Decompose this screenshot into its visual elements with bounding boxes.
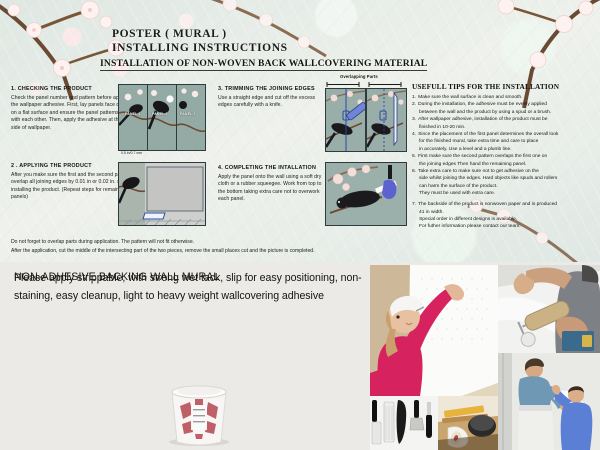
squeegee-applying-art <box>326 163 406 225</box>
note-line-2: After the application, cut the middle of… <box>11 247 481 256</box>
adhesive-bucket-image <box>160 380 238 448</box>
panel-2-label: PANEL 2 <box>152 112 168 116</box>
step-4-completing-the-installation: 4. COMPLETING THE INTALLATION Apply the … <box>218 165 324 204</box>
tip-text: Since the placement of the first panel d… <box>418 132 596 139</box>
tip-text: the joining edges Then hand the remainin… <box>419 162 596 169</box>
tip-item: 3. After wallpaper adhesive, installatio… <box>412 117 596 124</box>
step-2-heading: 2 . APPLYING THE PRODUCT <box>11 163 135 169</box>
tip-number: 6. <box>412 169 416 176</box>
tip-number: 5. <box>412 154 416 161</box>
tip-text: for the finished mural, take extra time … <box>419 139 596 146</box>
bird-panel-art <box>148 85 176 150</box>
photo-collage <box>370 265 600 450</box>
step-1-heading: 1. CHECKING THE PRODUCT <box>11 86 135 92</box>
tip-item: 4. Since the placement of the first pane… <box>412 132 596 139</box>
hands-with-roller-image <box>498 265 600 353</box>
measurement-caption: 0.5 in/0.7 mm <box>121 151 142 155</box>
tip-text: During the installation, the adhesive mu… <box>418 102 596 109</box>
illustration-trim-right <box>366 88 407 152</box>
wallpaper-tools-image <box>370 396 438 450</box>
document-title: POSTER ( MURAL ) INSTALLING INSTRUCTIONS <box>112 27 288 55</box>
title-line-2: INSTALLING INSTRUCTIONS <box>112 41 288 55</box>
useful-tips-block: USEFULL TIPS FOR THE INSTALLATION 1. Mak… <box>412 82 596 232</box>
step-1-checking-the-product: 1. CHECKING THE PRODUCT Check the panel … <box>11 86 135 132</box>
instruction-sheet: POSTER ( MURAL ) INSTALLING INSTRUCTIONS… <box>0 0 600 450</box>
tip-text: Take extra care to make sure not to get … <box>418 169 596 176</box>
tip-text: Special order in different designs is av… <box>419 217 596 224</box>
tip-text-cont: 41 in width. <box>412 210 596 217</box>
tip-number: 3. <box>412 117 416 124</box>
note-line-1: Do not forget to overlap parts during ap… <box>11 238 481 247</box>
tips-heading: USEFULL TIPS FOR THE INSTALLATION <box>412 82 596 91</box>
tip-text: First make sure the second pattern overl… <box>418 154 596 161</box>
illustration-completing-installation <box>325 162 407 226</box>
tip-text-cont: for the finished mural, take extra time … <box>412 139 596 146</box>
tip-text-cont: finished in 10-20 min. <box>412 125 596 132</box>
tip-text: The backside of the product is nonwoven … <box>418 202 596 209</box>
step-2-body: After you make sure the first and the se… <box>11 172 135 202</box>
step-4-body: Apply the panel onto the wall using a so… <box>218 174 324 204</box>
applying-product-art <box>119 163 205 225</box>
step-2-applying-the-product: 2 . APPLYING THE PRODUCT After you make … <box>11 163 135 202</box>
bird-panel-art <box>177 85 205 150</box>
illustration-panel-2: PANEL 2 <box>147 84 177 151</box>
paste-table-image <box>438 396 498 450</box>
tip-text: For futher information please contact ou… <box>419 224 596 231</box>
photo-wallpaper-tools-set <box>370 396 438 450</box>
tip-text: in accurately. Use a level and a plumb l… <box>419 147 596 154</box>
tip-number: 4. <box>412 132 416 139</box>
promo-text-block: NON-ADHESIVE BACKING WALL MURAL Please a… <box>14 270 370 305</box>
illustration-trim-left <box>325 88 366 152</box>
tip-text-cont: the joining edges Then hand the remainin… <box>412 162 596 169</box>
overlapping-parts-caption: Overlapping Parts <box>340 74 378 79</box>
illustration-panel-3: PANEL 3 <box>176 84 206 151</box>
title-line-1: POSTER ( MURAL ) <box>112 27 288 41</box>
illustration-applying-product <box>118 162 206 226</box>
tip-item: 2. During the installation, the adhesive… <box>412 102 596 109</box>
tip-text: 41 in width. <box>419 210 596 217</box>
bird-panel-art <box>119 85 147 150</box>
tip-number: 7. <box>412 202 416 209</box>
panel-1-label: PANEL 1 <box>125 112 141 116</box>
woman-applying-wallpaper-image <box>370 265 498 396</box>
tip-text: can harm the surface of the product. <box>419 184 596 191</box>
tip-text-cont: side whilst joining the edges. Hard obje… <box>412 176 596 183</box>
trimming-edge-art <box>326 89 365 151</box>
trimming-knife-art <box>367 89 406 151</box>
step-1-body: Check the panel number and pattern befor… <box>11 95 135 132</box>
document-subtitle: INSTALLATION OF NON-WOVEN BACK WALLCOVER… <box>100 58 427 71</box>
tip-text: Make sure the wall surface is clean and … <box>418 95 596 102</box>
tip-text: After wallpaper adhesive, installation o… <box>418 117 596 124</box>
man-and-boy-image <box>498 353 600 450</box>
tip-text: They must be used with extra care. <box>419 191 596 198</box>
tip-text-cont: They must be used with extra care. <box>412 191 596 198</box>
tip-item: 7. The backside of the product is nonwov… <box>412 202 596 209</box>
tip-number: 1. <box>412 95 416 102</box>
tip-item: 6. Take extra care to make sure not to g… <box>412 169 596 176</box>
tip-number: 2. <box>412 102 416 109</box>
panel-3-label: PANEL 3 <box>180 112 196 116</box>
promo-heading: NON-ADHESIVE BACKING WALL MURAL <box>14 270 219 285</box>
photo-woman-applying-wallpaper <box>370 265 498 396</box>
tip-text: side whilst joining the edges. Hard obje… <box>419 176 596 183</box>
photo-hands-with-roller <box>498 265 600 353</box>
step-3-trimming-the-joining-edges: 3. TRIMMING THE JOINING EDGES Use a stra… <box>218 86 322 110</box>
tip-text-cont: Special order in different designs is av… <box>412 217 596 224</box>
photo-paste-table-with-roll <box>438 396 498 450</box>
tip-item: 1. Make sure the wall surface is clean a… <box>412 95 596 102</box>
tip-text-cont: in accurately. Use a level and a plumb l… <box>412 147 596 154</box>
photo-man-and-boy-smoothing-wall <box>498 353 600 450</box>
tip-item: 5. First make sure the second pattern ov… <box>412 154 596 161</box>
illustration-panel-1: PANEL 1 <box>118 84 148 151</box>
tip-text-cont: between the wall and the product by usin… <box>412 110 596 117</box>
tip-text: between the wall and the product by usin… <box>419 110 596 117</box>
step-3-heading: 3. TRIMMING THE JOINING EDGES <box>218 86 322 92</box>
step-4-heading: 4. COMPLETING THE INTALLATION <box>218 165 324 171</box>
instruction-panel: POSTER ( MURAL ) INSTALLING INSTRUCTIONS… <box>0 0 600 262</box>
overlap-measure-arrows-icon <box>325 81 405 88</box>
tip-text-cont: can harm the surface of the product. <box>412 184 596 191</box>
step-3-body: Use a straight edge and cut off the exce… <box>218 95 322 110</box>
tip-text: finished in 10-20 min. <box>419 125 596 132</box>
footer-notes: Do not forget to overlap parts during ap… <box>11 238 481 256</box>
tip-text-cont: For futher information please contact ou… <box>412 224 596 231</box>
